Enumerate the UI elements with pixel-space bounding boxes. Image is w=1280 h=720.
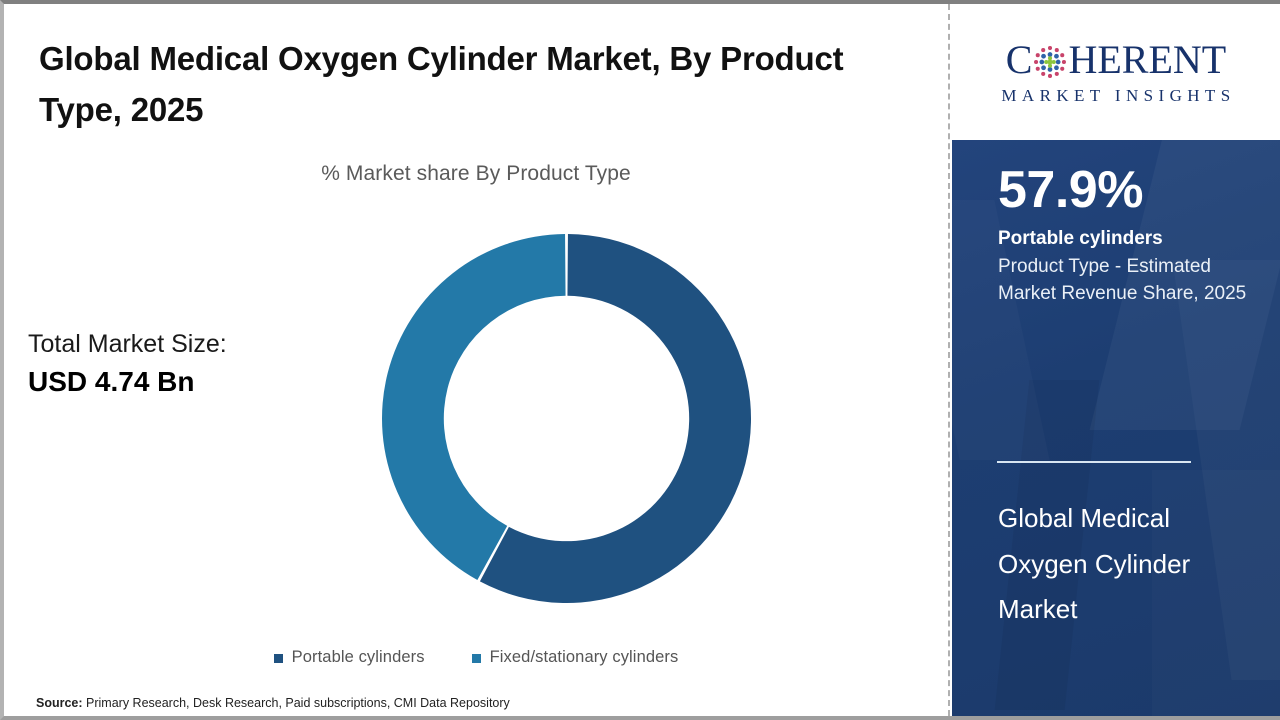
donut-slice-fixed-stationary-cylinders[interactable] <box>382 234 566 580</box>
stat-market-name: Global Medical Oxygen Cylinder Market <box>998 496 1248 633</box>
chart-subtitle: % Market share By Product Type <box>4 162 948 186</box>
page-title: Global Medical Oxygen Cylinder Market, B… <box>39 34 849 136</box>
legend-label: Fixed/stationary cylinders <box>490 648 679 667</box>
logo-subtitle: MARKET INSIGHTS <box>996 86 1235 106</box>
stat-percent: 57.9% <box>998 164 1143 216</box>
panel-divider <box>948 4 950 716</box>
stat-card: 57.9% Portable cylinders Product Type - … <box>952 140 1280 716</box>
total-market-size-label: Total Market Size: <box>28 326 358 362</box>
donut-chart: 57.9% xx.x% <box>374 226 759 611</box>
legend-swatch-icon <box>472 654 481 663</box>
logo-wordmark: C <box>1006 38 1226 82</box>
brand-stat-panel: C <box>952 4 1280 716</box>
infographic-slide: Global Medical Oxygen Cylinder Market, B… <box>0 0 1280 720</box>
legend-swatch-icon <box>274 654 283 663</box>
total-market-size-value: USD 4.74 Bn <box>28 362 358 403</box>
logo[interactable]: C <box>952 4 1280 140</box>
globe-dots-icon <box>1033 45 1067 79</box>
logo-letter-c: C <box>1006 40 1033 80</box>
stat-description: Product Type - Estimated Market Revenue … <box>998 254 1248 308</box>
source-text: Primary Research, Desk Research, Paid su… <box>83 696 510 710</box>
chart-panel: Global Medical Oxygen Cylinder Market, B… <box>4 4 948 716</box>
source-note: Source: Primary Research, Desk Research,… <box>36 696 510 710</box>
stat-divider <box>997 461 1191 463</box>
legend-label: Portable cylinders <box>292 648 425 667</box>
chart-legend: Portable cylinders Fixed/stationary cyli… <box>4 648 948 667</box>
total-market-size-block: Total Market Size: USD 4.74 Bn <box>28 326 358 403</box>
donut-label-fixed-stationary-cylinders: xx.x% <box>387 559 431 576</box>
stat-segment-name: Portable cylinders <box>998 228 1163 251</box>
logo-letters-herent: HERENT <box>1068 40 1226 80</box>
donut-chart-svg <box>374 226 759 611</box>
source-label: Source: <box>36 696 83 710</box>
legend-item-portable-cylinders[interactable]: Portable cylinders <box>274 648 425 667</box>
legend-item-fixed-stationary-cylinders[interactable]: Fixed/stationary cylinders <box>472 648 679 667</box>
